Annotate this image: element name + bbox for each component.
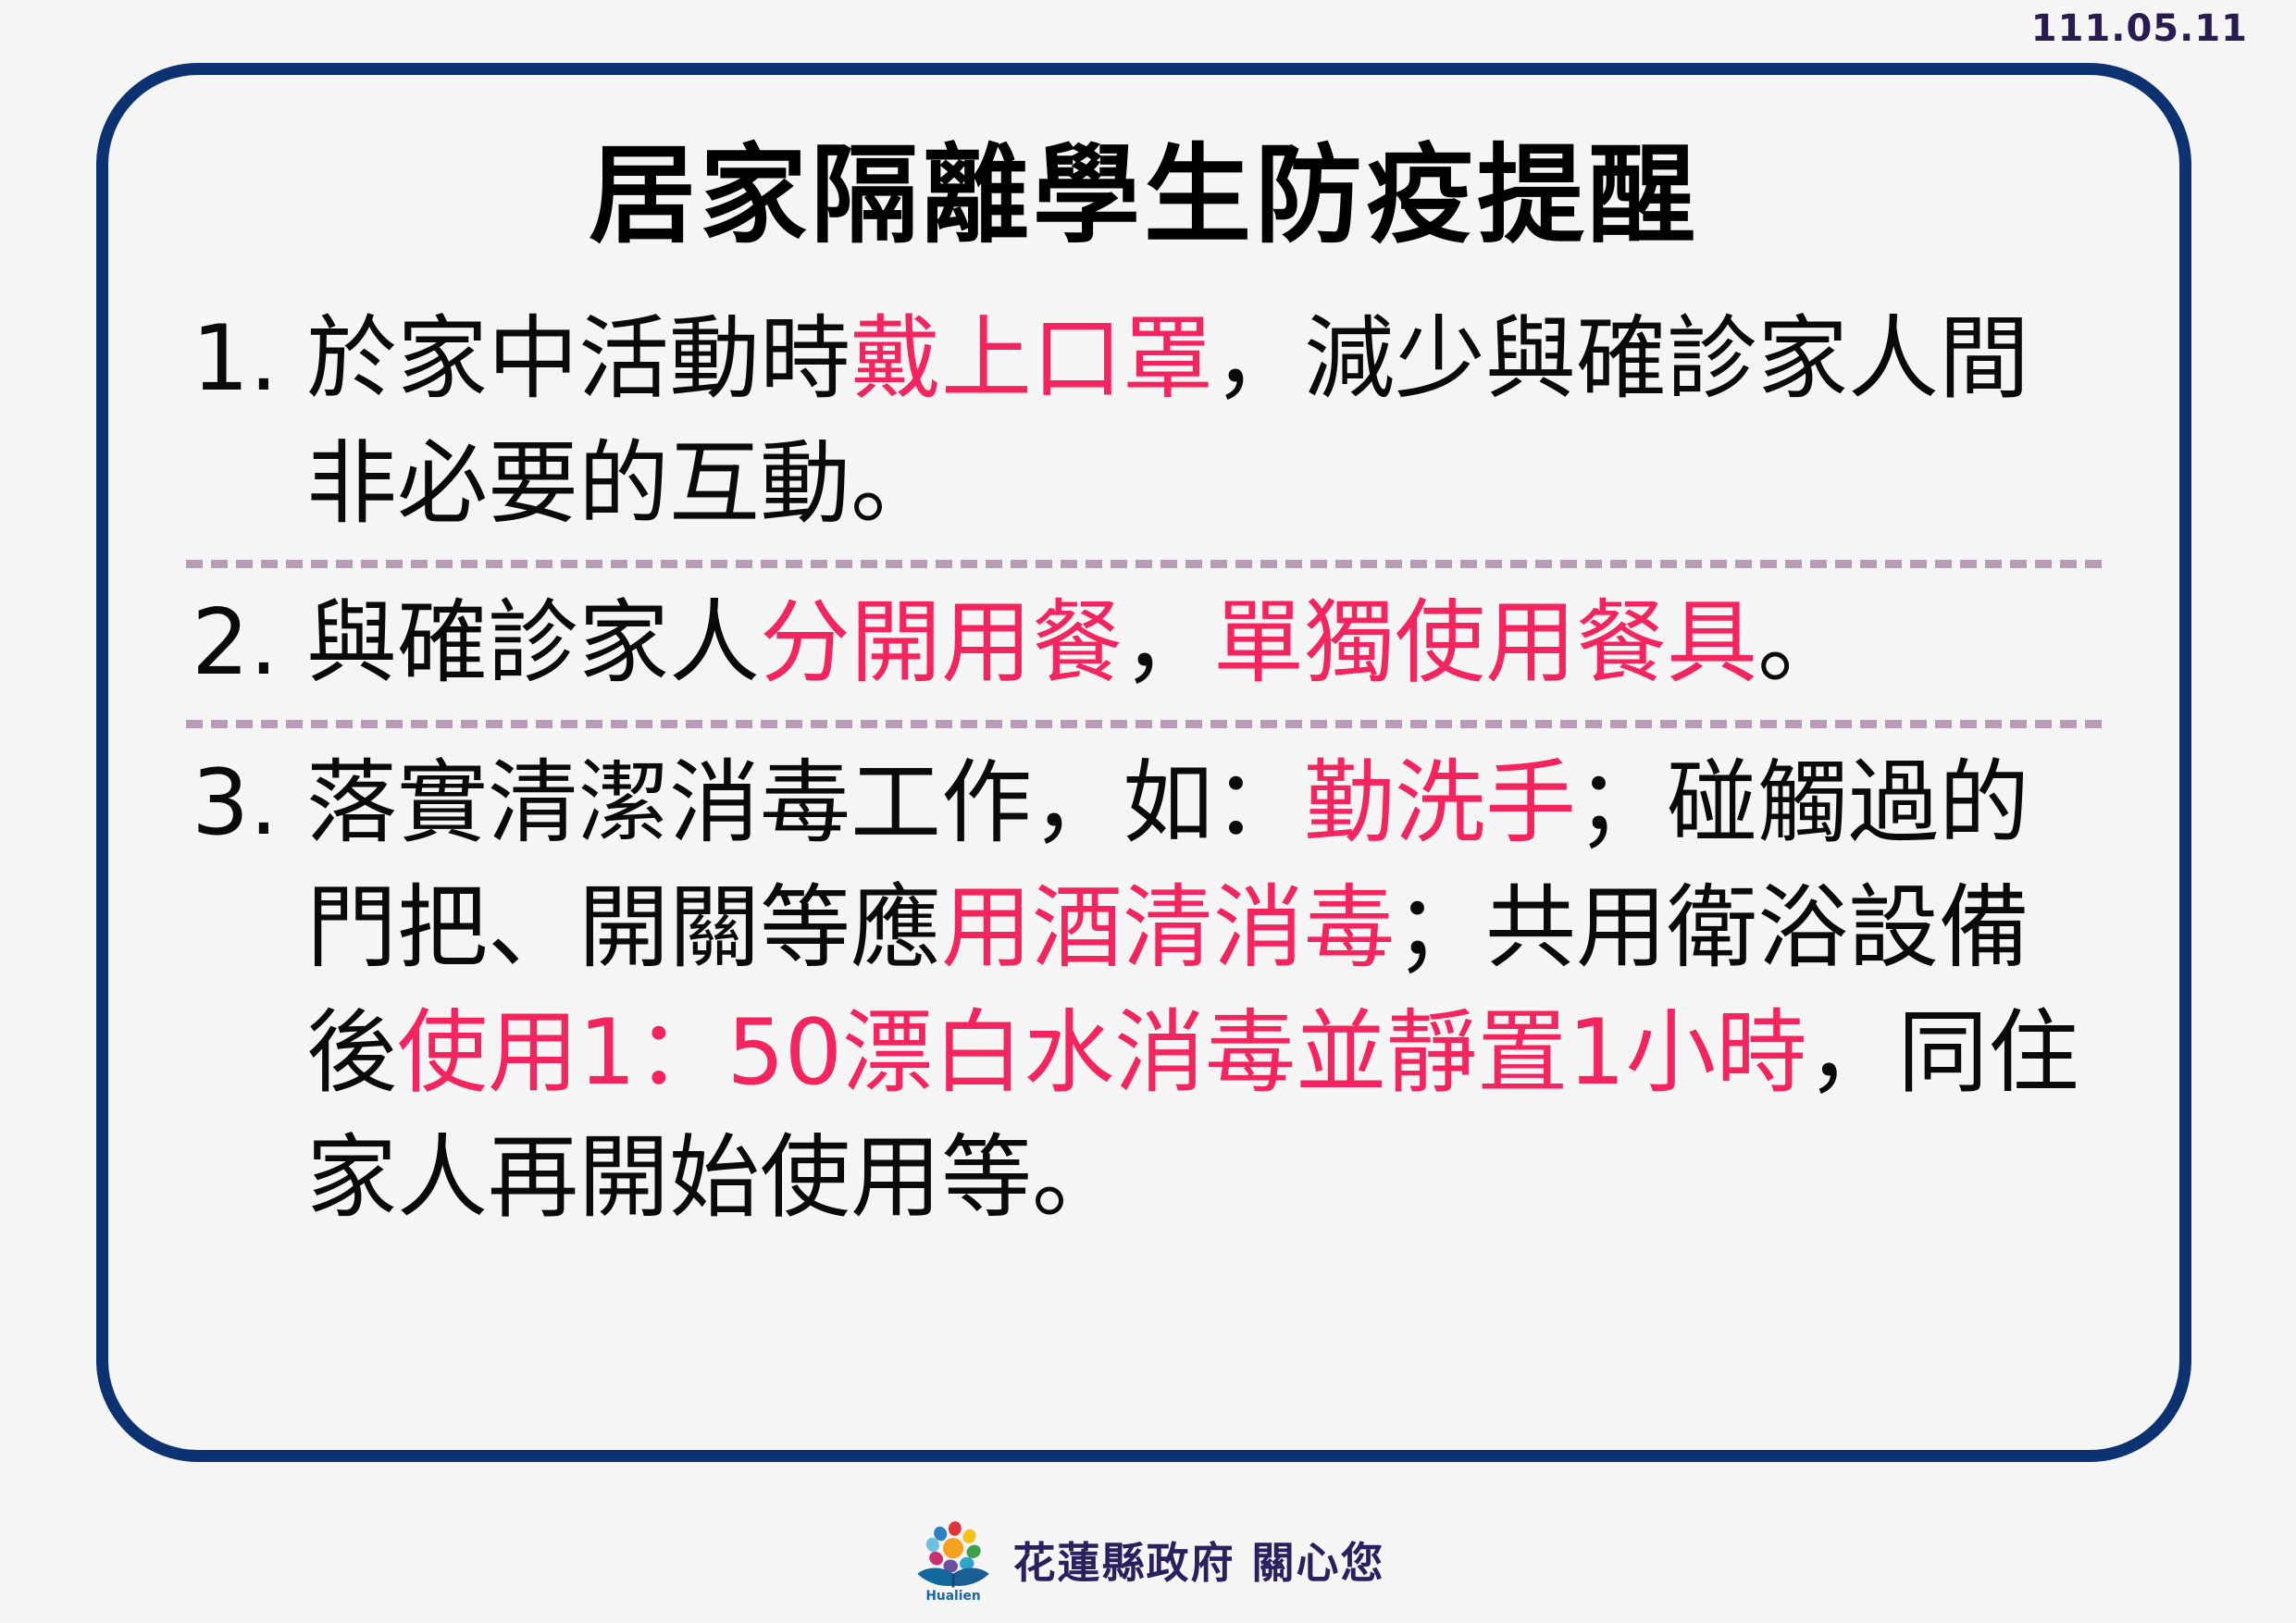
text-segment: 於家中活動時: [306, 306, 850, 412]
list-item-number: 3.: [180, 741, 306, 866]
list-item-text: 於家中活動時戴上口罩，減少與確診家人間非必要的互動。: [306, 297, 2107, 547]
list-item-text: 與確診家人分開用餐，單獨使用餐具。: [306, 581, 2107, 706]
dashed-divider: [186, 560, 2102, 568]
hualien-logo-icon: Hualien: [911, 1518, 996, 1603]
text-segment: ，: [1123, 590, 1213, 696]
announcement-card: 居家隔離學生防疫提醒 1. 於家中活動時戴上口罩，減少與確診家人間非必要的互動。…: [96, 63, 2191, 1462]
highlight-segment: 戴上口罩: [850, 306, 1213, 412]
text-segment: 。: [1757, 590, 1848, 696]
highlight-segment: 勤洗手: [1304, 750, 1576, 856]
text-segment: 落實清潔消毒工作，如：: [306, 750, 1304, 856]
date-stamp: 111.05.11: [2031, 7, 2248, 50]
footer: Hualien 花蓮縣政府 關心您: [0, 1518, 2296, 1603]
highlight-segment: 單獨使用餐具: [1213, 590, 1757, 696]
highlight-segment: 使用1：50漂白水消毒並靜置1小時: [397, 1000, 1806, 1106]
page-title: 居家隔離學生防疫提醒: [108, 136, 2179, 256]
list-item-number: 2.: [180, 581, 306, 706]
highlight-segment: 分開用餐: [760, 590, 1123, 696]
highlight-segment: 用酒清消毒: [941, 875, 1395, 981]
dashed-divider: [186, 720, 2102, 728]
list-item: 2. 與確診家人分開用餐，單獨使用餐具。: [180, 581, 2107, 706]
text-segment: 與確診家人: [306, 590, 760, 696]
svg-text:Hualien: Hualien: [926, 1589, 981, 1603]
list-item-number: 1.: [180, 297, 306, 422]
footer-text: 花蓮縣政府 關心您: [1012, 1530, 1384, 1591]
list-item: 1. 於家中活動時戴上口罩，減少與確診家人間非必要的互動。: [180, 297, 2107, 547]
list-item: 3. 落實清潔消毒工作，如：勤洗手；碰觸過的門把、開關等應用酒清消毒；共用衛浴設…: [180, 741, 2107, 1242]
reminder-list: 1. 於家中活動時戴上口罩，減少與確診家人間非必要的互動。 2. 與確診家人分開…: [180, 297, 2107, 1242]
list-item-text: 落實清潔消毒工作，如：勤洗手；碰觸過的門把、開關等應用酒清消毒；共用衛浴設備後使…: [306, 741, 2107, 1242]
